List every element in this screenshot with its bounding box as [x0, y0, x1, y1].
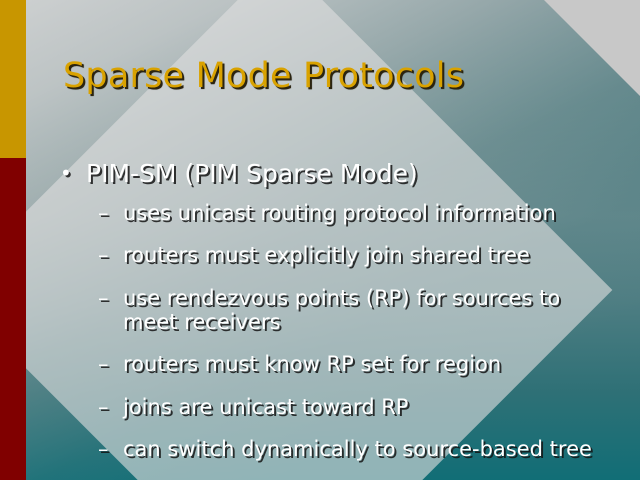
- bullet-item-level2: – uses unicast routing protocol informat…: [98, 201, 620, 225]
- bullet-text: uses unicast routing protocol informatio…: [123, 201, 620, 225]
- bullet-item-level2: – routers must know RP set for region: [98, 352, 620, 376]
- bullet-marker-dot: •: [60, 160, 86, 187]
- bullet-text: PIM-SM (PIM Sparse Mode): [86, 160, 620, 188]
- slide-content: Sparse Mode Protocols • PIM-SM (PIM Spar…: [0, 0, 640, 480]
- bullet-text: can switch dynamically to source-based t…: [123, 437, 620, 461]
- bullet-item-level2: – routers must explicitly join shared tr…: [98, 243, 620, 267]
- bullet-marker-dash: –: [98, 201, 123, 225]
- presentation-slide: Sparse Mode Protocols • PIM-SM (PIM Spar…: [0, 0, 640, 480]
- bullet-item-level2: – use rendezvous points (RP) for sources…: [98, 286, 620, 335]
- bullet-marker-dash: –: [98, 395, 123, 419]
- bullet-marker-dash: –: [98, 437, 123, 461]
- bullet-item-level2: – can switch dynamically to source-based…: [98, 437, 620, 461]
- bullet-text: routers must explicitly join shared tree: [123, 243, 620, 267]
- bullet-text: joins are unicast toward RP: [123, 395, 620, 419]
- bullet-item-level1: • PIM-SM (PIM Sparse Mode): [60, 160, 620, 188]
- bullet-marker-dash: –: [98, 286, 123, 310]
- bullet-text: routers must know RP set for region: [123, 352, 620, 376]
- bullet-marker-dash: –: [98, 352, 123, 376]
- slide-bullet-list: • PIM-SM (PIM Sparse Mode) – uses unicas…: [60, 160, 620, 480]
- bullet-marker-dash: –: [98, 243, 123, 267]
- bullet-item-level2: – joins are unicast toward RP: [98, 395, 620, 419]
- slide-title: Sparse Mode Protocols: [63, 56, 464, 96]
- bullet-text: use rendezvous points (RP) for sources t…: [123, 286, 620, 335]
